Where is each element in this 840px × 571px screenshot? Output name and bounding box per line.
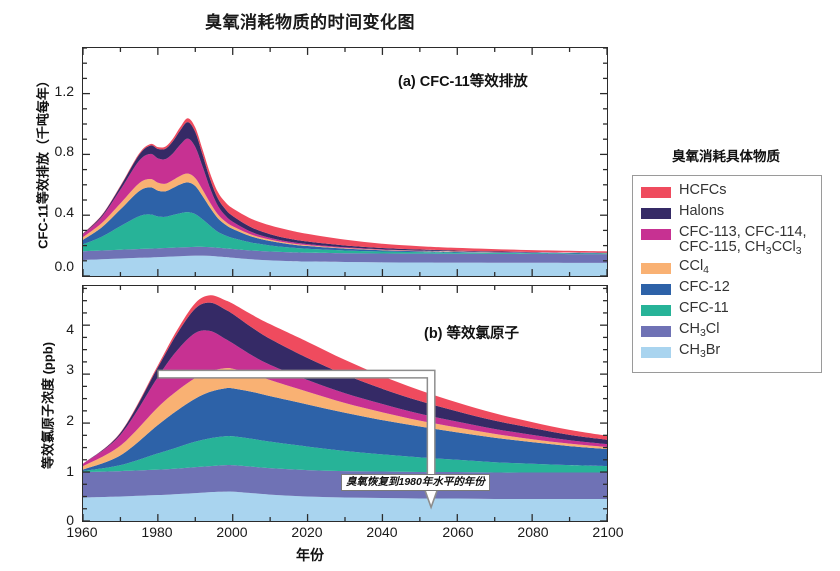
xtick-2020: 2020	[277, 524, 337, 540]
xtick-2040: 2040	[352, 524, 412, 540]
legend-title: 臭氧消耗具体物质	[626, 145, 826, 165]
legend-swatch-icon	[641, 208, 671, 219]
legend-item-label: HCFCs	[679, 183, 727, 198]
panel-b-label: (b) 等效氯原子	[424, 322, 519, 343]
panel-b-ytick-2: 3	[18, 361, 74, 377]
panel-b-ytick-1: 4	[18, 321, 74, 337]
xtick-2080: 2080	[503, 524, 563, 540]
legend-item-2[interactable]: CFC-113, CFC-114,CFC-115, CH3CCl3	[641, 225, 821, 257]
legend-item-0[interactable]: HCFCs	[641, 183, 821, 202]
legend-item-5[interactable]: CFC-11	[641, 301, 821, 320]
panel-a-ytick-3: 0.4	[18, 204, 74, 220]
panel-a-plot-area	[82, 47, 608, 277]
legend-swatch-icon	[641, 284, 671, 295]
x-axis-title: 年份	[0, 545, 620, 565]
panel-a-ytick-2: 0.8	[18, 143, 74, 159]
chart-title: 臭氧消耗物质的时间变化图	[0, 8, 620, 33]
reference-line	[158, 374, 431, 484]
legend-item-label: CFC-12	[679, 280, 730, 295]
xtick-1960: 1960	[52, 524, 112, 540]
legend-item-label: CH3Br	[679, 343, 720, 361]
panel-a-ytick-4: 0.0	[18, 258, 74, 274]
legend-item-label: CFC-113, CFC-114,CFC-115, CH3CCl3	[679, 225, 807, 257]
legend-item-4[interactable]: CFC-12	[641, 280, 821, 299]
legend-item-label: CCl4	[679, 259, 709, 277]
xtick-2000: 2000	[202, 524, 262, 540]
panel-a-ytick-1: 1.2	[18, 83, 74, 99]
legend-swatch-icon	[641, 229, 671, 240]
panel-a-ticks	[83, 48, 607, 276]
chart-root: 臭氧消耗物质的时间变化图 (a) CFC-11等效排放 CFC-11等效排放（千…	[0, 0, 840, 571]
xtick-2060: 2060	[428, 524, 488, 540]
legend-item-6[interactable]: CH3Cl	[641, 322, 821, 341]
panel-b-ytick-4: 1	[18, 463, 74, 479]
legend-item-label: CH3Cl	[679, 322, 719, 340]
xtick-2100: 2100	[578, 524, 638, 540]
panel-a-y-axis-title-text: CFC-11等效排放（千吨每年）	[36, 74, 51, 249]
legend-item-label: CFC-11	[679, 301, 729, 316]
legend-item-7[interactable]: CH3Br	[641, 343, 821, 362]
legend-item-1[interactable]: Halons	[641, 204, 821, 223]
legend-swatch-icon	[641, 347, 671, 358]
legend-item-3[interactable]: CCl4	[641, 259, 821, 278]
panel-a-label: (a) CFC-11等效排放	[398, 70, 528, 91]
legend-swatch-icon	[641, 326, 671, 337]
legend-swatch-icon	[641, 187, 671, 198]
legend-swatch-icon	[641, 263, 671, 274]
recovery-year-annotation: 臭氧恢复到1980年水平的年份	[341, 474, 490, 491]
legend-swatch-icon	[641, 305, 671, 316]
reference-line-outline	[158, 374, 431, 484]
legend-box: HCFCsHalonsCFC-113, CFC-114,CFC-115, CH3…	[632, 175, 822, 373]
legend-item-label: Halons	[679, 204, 724, 219]
panel-b-ytick-3: 2	[18, 412, 74, 428]
xtick-1980: 1980	[127, 524, 187, 540]
